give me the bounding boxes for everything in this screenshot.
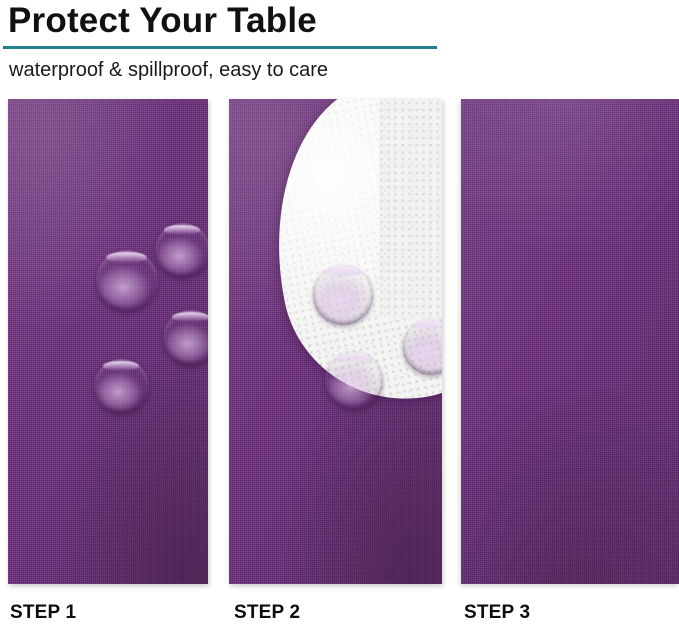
white-towel-edge xyxy=(379,99,442,319)
water-droplet xyxy=(96,250,158,312)
page-subtitle: waterproof & spillproof, easy to care xyxy=(9,56,328,84)
water-droplet xyxy=(155,223,208,278)
step-3-image-panel xyxy=(461,99,679,584)
title-divider xyxy=(3,46,437,49)
page-title: Protect Your Table xyxy=(8,0,317,44)
water-droplet xyxy=(313,265,373,325)
step-1-caption: STEP 1 xyxy=(10,600,76,626)
step-panels-row xyxy=(0,99,679,584)
fabric-shading-overlay xyxy=(461,99,679,584)
water-droplet xyxy=(94,359,149,414)
step-1-image-panel xyxy=(8,99,208,584)
step-3-caption: STEP 3 xyxy=(464,600,530,626)
header-block: Protect Your Table waterproof & spillpro… xyxy=(0,0,679,95)
step-captions-row: STEP 1 STEP 2 STEP 3 xyxy=(0,600,679,634)
step-2-image-panel xyxy=(229,99,442,584)
water-droplet xyxy=(325,352,383,410)
step-2-caption: STEP 2 xyxy=(234,600,300,626)
